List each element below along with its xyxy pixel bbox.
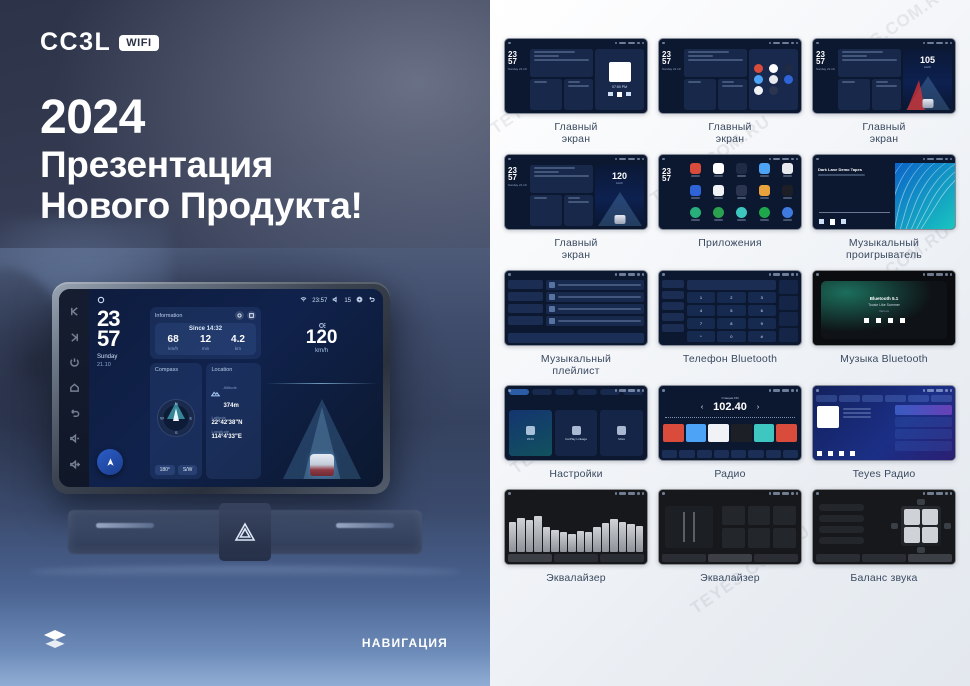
driving-view-panel[interactable]: 120 km/h	[266, 307, 377, 479]
mini-settings-tiles: Wi-FiCarPlay LinkageMore	[509, 410, 643, 456]
mini-information-card	[838, 49, 901, 77]
mini-app-icon	[708, 207, 729, 226]
gear-icon	[791, 492, 794, 495]
mini-status-bar	[659, 386, 801, 394]
compass-east-label: E	[189, 416, 192, 421]
wifi-icon	[615, 273, 618, 276]
mini-eq-tabs	[508, 554, 644, 562]
mini-app-icon	[731, 207, 752, 226]
home-icon	[816, 389, 819, 392]
back-icon	[642, 492, 645, 495]
compass-south-label: S	[175, 430, 178, 435]
volume-down-icon[interactable]	[68, 432, 81, 445]
gallery-thumbnail[interactable]	[504, 489, 648, 565]
gallery-caption: Главныйэкран	[862, 121, 905, 146]
mini-location-card	[872, 79, 901, 110]
wifi-icon	[923, 273, 926, 276]
location-longitude: Longitude 114°4'33"E	[211, 429, 256, 440]
mini-dial-key: 7	[687, 318, 715, 329]
head-unit-content: 23 57 Sunday 21.10	[95, 307, 377, 479]
mini-dial-key: *	[687, 331, 715, 342]
gallery-caption: Баланс звука	[850, 572, 917, 584]
mini-teyes-art	[817, 406, 839, 428]
prev-station-icon: ‹	[701, 404, 703, 411]
gear-icon	[637, 42, 640, 45]
power-icon[interactable]	[68, 356, 81, 369]
widget-stack: Information Since 14:32	[150, 307, 261, 479]
compass-north-label: N	[175, 401, 178, 406]
mini-time	[619, 273, 626, 276]
mini-location-card	[718, 79, 747, 110]
mountain-icon	[211, 385, 220, 403]
mini-dial-key: 4	[687, 305, 715, 316]
mini-dial-key: 9	[748, 318, 776, 329]
mini-app-icon	[754, 163, 775, 182]
logo-text: CC3L	[40, 30, 111, 55]
mini-playlist-row	[546, 304, 644, 314]
volume-value: 15	[344, 298, 351, 304]
stat-distance-unit: km	[222, 346, 254, 351]
stat-duration-unit: min	[189, 346, 221, 351]
gallery-caption: Эквалайзер	[546, 572, 606, 584]
mini-radio-preset	[776, 424, 797, 442]
back-icon	[796, 42, 799, 45]
mini-album-art	[895, 163, 955, 229]
gallery-thumbnail[interactable]	[504, 270, 648, 346]
volume-icon	[628, 389, 635, 392]
mini-app-icon	[754, 185, 775, 204]
head-unit-screen: 23:57 15 23 57	[59, 289, 383, 487]
stat-duration-value: 12	[189, 335, 221, 345]
vent-slit-right	[336, 523, 394, 528]
gear-icon	[945, 158, 948, 161]
head-unit-side-buttons[interactable]	[59, 289, 89, 487]
gallery-thumbnail[interactable]: 2357Sunday 21.10	[658, 38, 802, 114]
status-time: 23:57	[312, 298, 327, 304]
mini-radio-preset	[686, 424, 707, 442]
mini-speed-value: 105	[903, 55, 952, 65]
mini-radio-preset	[663, 424, 684, 442]
volume-icon	[936, 389, 943, 392]
home-icon	[662, 492, 665, 495]
home-icon	[662, 158, 665, 161]
mini-compass-card	[530, 79, 562, 110]
back-icon[interactable]	[368, 296, 375, 305]
clock-date: 21.10	[97, 362, 145, 368]
mini-time	[927, 158, 934, 161]
hero-footer: НАВИГАЦИЯ	[0, 629, 490, 656]
speed-unit: km/h	[266, 348, 377, 354]
gallery-caption: Teyes Радио	[853, 468, 916, 480]
gear-icon	[791, 158, 794, 161]
mini-dial-key: 8	[717, 318, 745, 329]
gallery-item[interactable]: Эквалайзер	[658, 489, 802, 584]
mini-time	[619, 389, 626, 392]
product-logo: CC3L WIFI	[40, 30, 159, 55]
gallery-thumbnail[interactable]: 2357Sunday 21.10 07:50 PM	[504, 38, 648, 114]
mini-player-info: Dark Lane Demo Tapes	[813, 163, 895, 229]
expand-icon[interactable]	[247, 311, 256, 320]
refresh-icon[interactable]	[235, 311, 244, 320]
stat-distance-value: 4.2	[222, 335, 254, 345]
mini-settings-tile: More	[600, 410, 643, 456]
gallery-thumbnail[interactable]	[812, 385, 956, 461]
stat-speed-unit: km/h	[157, 346, 189, 351]
home-icon	[508, 42, 511, 45]
mini-time	[619, 492, 626, 495]
mini-settings-tile: CarPlay Linkage	[555, 410, 598, 456]
latitude-value: 22°42'38"N	[211, 420, 256, 426]
mini-keypad: 123456789*0#	[687, 292, 776, 342]
gallery-thumbnail[interactable]: 2357Sunday 21.10 105 km/h	[812, 38, 956, 114]
gallery-item[interactable]: 2357Sunday 21.10 120 km/h Главныйэкран	[504, 154, 648, 262]
volume-icon	[782, 42, 789, 45]
gallery-thumbnail[interactable]: Wi-FiCarPlay LinkageMore	[504, 385, 648, 461]
gallery-caption: Главныйэкран	[554, 237, 597, 262]
gallery-caption: Музыкальныйплейлист	[541, 353, 611, 378]
information-since: Since 14:32	[157, 326, 254, 332]
mini-status-bar	[813, 386, 955, 394]
gallery-item[interactable]: Эквалайзер	[504, 489, 648, 584]
home-icon	[662, 389, 665, 392]
mini-eq-preset	[722, 506, 745, 526]
altitude-value: 374m	[223, 403, 238, 409]
gear-icon	[637, 273, 640, 276]
back-icon	[642, 273, 645, 276]
mini-location-card	[564, 195, 593, 226]
wifi-icon	[615, 389, 618, 392]
navigation-label: НАВИГАЦИЯ	[362, 636, 448, 650]
back-icon	[950, 273, 953, 276]
mini-radio-preset	[708, 424, 729, 442]
presentation-slide: CC3L WIFI 2024 Презентация Нового Продук…	[0, 0, 970, 686]
mini-time	[927, 273, 934, 276]
home-icon	[816, 158, 819, 161]
mini-teyes-list	[895, 405, 952, 453]
mini-eq-faders	[665, 506, 713, 548]
gallery-caption: Музыка Bluetooth	[840, 353, 928, 365]
mini-widgets	[838, 49, 901, 110]
mini-app-icon	[708, 185, 729, 204]
mini-app-icon	[777, 185, 798, 204]
gallery-item[interactable]: 123456789*0# Телефон Bluetooth	[658, 270, 802, 378]
mini-teyes-row	[895, 417, 952, 427]
gallery-caption: Радио	[714, 468, 745, 480]
mini-radio-band: Станции FM	[659, 396, 801, 400]
gallery-item[interactable]: Станции FM ‹ 102.40 › Радио	[658, 385, 802, 480]
speed-value: 120	[266, 328, 377, 347]
mini-widgets	[684, 49, 747, 110]
gallery-thumbnail[interactable]: Bluetooth 5.1 Toosie Like Summer Various	[812, 270, 956, 346]
hero-heading: 2024 Презентация Нового Продукта!	[40, 92, 363, 227]
gallery-item[interactable]: Wi-FiCarPlay LinkageMoreНастройки	[504, 385, 648, 480]
volume-icon	[782, 273, 789, 276]
gear-icon	[791, 273, 794, 276]
volume-icon	[936, 42, 943, 45]
mini-information-card	[530, 165, 593, 193]
mini-widgets	[530, 165, 593, 226]
mini-status-bar	[813, 490, 955, 498]
gallery-item[interactable]: Музыкальныйплейлист	[504, 270, 648, 378]
compass-bearing: 180°	[155, 465, 175, 475]
head-unit-display: 23:57 15 23 57	[89, 289, 383, 487]
gear-icon	[945, 273, 948, 276]
mini-compass-card	[838, 79, 870, 110]
mini-information-card	[684, 49, 747, 77]
prev-track-icon[interactable]	[68, 305, 81, 318]
back-icon	[796, 492, 799, 495]
mini-eq-preset	[748, 528, 771, 548]
gallery-thumbnail[interactable]: 2357	[658, 154, 802, 230]
mini-clock: 2357Sunday 21.10	[508, 165, 528, 226]
mini-time	[927, 42, 934, 45]
wifi-icon	[769, 42, 772, 45]
compass-dial: N E S W	[155, 373, 198, 463]
back-icon	[796, 273, 799, 276]
layers-icon	[42, 629, 68, 656]
stat-distance: 4.2 km	[222, 335, 254, 351]
mini-dial-key: 1	[687, 292, 715, 303]
volume-icon	[628, 158, 635, 161]
mini-driving-view: 105 km/h	[903, 49, 952, 110]
gallery-caption: Главныйэкран	[708, 121, 751, 146]
gear-icon	[791, 389, 794, 392]
navigation-arrow-icon[interactable]	[97, 449, 123, 475]
home-icon[interactable]	[68, 381, 81, 394]
mini-dial-key: 6	[748, 305, 776, 316]
volume-icon	[628, 42, 635, 45]
mini-radio-preset	[754, 424, 775, 442]
mini-dialer-sidebar	[662, 280, 684, 342]
widget-row: Compass N E S	[150, 363, 261, 479]
volume-icon	[782, 158, 789, 161]
compass-card[interactable]: Compass N E S	[150, 363, 203, 479]
screenshot-gallery: TEYES.COM.RU TEYES.COM.RU TEYES.COM.RU T…	[490, 0, 970, 686]
mini-status-bar	[813, 155, 955, 163]
mini-speed-value: 120	[595, 171, 644, 181]
hero-panel: CC3L WIFI 2024 Презентация Нового Продук…	[0, 0, 490, 686]
next-station-icon: ›	[757, 404, 759, 411]
gear-icon	[637, 389, 640, 392]
wifi-icon	[769, 389, 772, 392]
home-icon	[508, 158, 511, 161]
stat-speed: 68 km/h	[157, 335, 189, 351]
wifi-icon	[769, 273, 772, 276]
home-icon	[508, 273, 511, 276]
mini-playlist-row	[546, 280, 644, 290]
car-dashboard-scene: 23:57 15 23 57	[0, 248, 490, 686]
mini-app-shortcuts	[749, 49, 798, 110]
altitude-label: Altitude	[223, 385, 236, 390]
mini-compass-card	[684, 79, 716, 110]
hazard-light-button[interactable]	[219, 503, 271, 561]
location-card-title: Location	[211, 367, 256, 373]
speed-readout: 120 km/h	[266, 317, 377, 354]
information-stats-panel: Since 14:32 68 km/h 12	[155, 323, 256, 355]
mini-teyes-row	[895, 405, 952, 415]
mini-eq-preset	[748, 506, 771, 526]
gallery-thumbnail[interactable]: Станции FM ‹ 102.40 ›	[658, 385, 802, 461]
mini-balance-presets	[819, 504, 864, 548]
gallery-item[interactable]: 2357Приложения	[658, 154, 802, 262]
gallery-caption: Главныйэкран	[554, 121, 597, 146]
gear-icon	[945, 389, 948, 392]
wifi-icon	[615, 492, 618, 495]
home-icon	[662, 42, 665, 45]
gear-icon[interactable]	[356, 296, 363, 305]
gallery-item[interactable]: 2357Sunday 21.10 Главныйэкран	[658, 38, 802, 146]
mini-status-bar	[505, 155, 647, 163]
compass-readouts: 180° S/W	[155, 465, 198, 475]
back-icon	[950, 42, 953, 45]
hero-line-1: Презентация	[40, 144, 363, 185]
gallery-caption: Приложения	[698, 237, 761, 249]
back-icon	[796, 389, 799, 392]
compass-direction: S/W	[178, 465, 198, 475]
home-icon	[816, 273, 819, 276]
mini-app-icon	[685, 163, 706, 182]
mini-time	[619, 158, 626, 161]
gallery-caption: Телефон Bluetooth	[683, 353, 777, 365]
mini-clock: 2357Sunday 21.10	[816, 49, 836, 110]
mini-radio-preset	[731, 424, 752, 442]
mini-settings-tile: Wi-Fi	[509, 410, 552, 456]
mini-time	[927, 492, 934, 495]
head-unit-left-column: 23 57 Sunday 21.10	[95, 307, 261, 479]
mini-dial-key: 2	[717, 292, 745, 303]
gear-icon	[945, 42, 948, 45]
gallery-thumbnail[interactable]	[812, 489, 956, 565]
mini-status-bar	[505, 39, 647, 47]
mini-time	[773, 273, 780, 276]
gear-icon	[637, 158, 640, 161]
road-horizon	[266, 383, 377, 384]
home-icon	[816, 492, 819, 495]
gallery-item[interactable]: Dark Lane Demo Tapes Музыкальныйпроигрыв…	[812, 154, 956, 262]
mini-status-bar	[505, 490, 647, 498]
back-icon	[950, 389, 953, 392]
wifi-icon	[615, 158, 618, 161]
volume-icon	[936, 273, 943, 276]
volume-icon	[936, 158, 943, 161]
mini-radio-presets	[663, 424, 797, 442]
gear-icon	[637, 492, 640, 495]
gallery-item[interactable]: Баланс звука	[812, 489, 956, 584]
back-icon	[796, 158, 799, 161]
location-card[interactable]: Location Altitude 374m	[206, 363, 261, 479]
mini-widgets	[530, 49, 593, 110]
stat-duration: 12 min	[189, 335, 221, 351]
mini-status-bar	[505, 271, 647, 279]
clock-day: Sunday	[97, 353, 145, 361]
location-altitude: Altitude 374m	[211, 376, 256, 412]
wifi-icon	[769, 492, 772, 495]
wifi-icon	[923, 42, 926, 45]
mini-eq-preset	[773, 528, 796, 548]
gallery-item[interactable]: Teyes Радио	[812, 385, 956, 480]
mini-time	[773, 158, 780, 161]
mini-time	[773, 492, 780, 495]
lead-car	[310, 454, 334, 476]
console-highlight	[30, 566, 460, 578]
mini-app-icon	[731, 185, 752, 204]
information-card-title: Information	[155, 313, 183, 319]
mini-status-bar	[659, 490, 801, 498]
mini-status-bar	[813, 39, 955, 47]
mini-playlist-row	[546, 292, 644, 302]
mini-app-icon	[685, 207, 706, 226]
mini-eq-tabs	[662, 554, 798, 562]
hero-year: 2024	[40, 92, 363, 144]
gallery-thumbnail[interactable]	[658, 489, 802, 565]
home-icon[interactable]	[97, 296, 105, 306]
back-icon	[642, 42, 645, 45]
mini-app-icon	[731, 163, 752, 182]
mini-bt-card: Bluetooth 5.1 Toosie Like Summer Various	[821, 281, 947, 339]
location-latitude: Latitude 22°42'38"N	[211, 415, 256, 426]
mini-equalizer-bands	[509, 504, 643, 552]
mini-status-bar	[505, 386, 647, 394]
compass-west-label: W	[160, 416, 164, 421]
volume-icon	[936, 492, 943, 495]
compass-needle	[173, 408, 179, 421]
mini-location-card	[564, 79, 593, 110]
volume-up-icon[interactable]	[68, 458, 81, 471]
back-icon[interactable]	[68, 407, 81, 420]
back-icon	[642, 389, 645, 392]
mini-dial-key: 0	[717, 331, 745, 342]
mini-app-icon	[777, 207, 798, 226]
wifi-icon	[923, 158, 926, 161]
mini-playlist-row	[546, 316, 644, 326]
mini-media-panel: 07:50 PM	[595, 49, 644, 110]
gallery-item[interactable]: 2357Sunday 21.10 07:50 PM Главныйэкран	[504, 38, 648, 146]
hazard-triangle-icon	[233, 521, 257, 543]
home-icon	[508, 389, 511, 392]
mini-driving-view: 120 km/h	[595, 165, 644, 226]
mini-dial-key: 5	[717, 305, 745, 316]
back-icon	[950, 158, 953, 161]
information-card[interactable]: Information Since 14:32	[150, 307, 261, 359]
wifi-icon	[300, 296, 307, 305]
gear-icon	[945, 492, 948, 495]
wifi-icon	[923, 492, 926, 495]
headlight-icon	[317, 317, 326, 326]
mini-teyes-row	[895, 429, 952, 439]
gallery-thumbnail[interactable]: Dark Lane Demo Tapes	[812, 154, 956, 230]
mini-teyes-row	[895, 441, 952, 451]
gallery-thumbnail[interactable]: 123456789*0#	[658, 270, 802, 346]
mini-time	[619, 42, 626, 45]
back-icon	[950, 492, 953, 495]
head-unit-bezel: 23:57 15 23 57	[52, 282, 390, 494]
stat-speed-value: 68	[157, 335, 189, 345]
mini-radio-frequency: 102.40	[713, 401, 747, 413]
home-icon	[816, 42, 819, 45]
mini-compass-card	[530, 195, 562, 226]
next-track-icon[interactable]	[68, 331, 81, 344]
logo-wifi-badge: WIFI	[119, 35, 158, 51]
mini-app-icon	[777, 163, 798, 182]
gallery-caption: Настройки	[549, 468, 602, 480]
gallery-thumbnail[interactable]: 2357Sunday 21.10 120 km/h	[504, 154, 648, 230]
volume-icon	[628, 273, 635, 276]
information-card-header: Information	[155, 311, 256, 320]
gallery-item[interactable]: Bluetooth 5.1 Toosie Like Summer Various…	[812, 270, 956, 378]
volume-icon	[628, 492, 635, 495]
mini-speed-unit: km/h	[595, 181, 644, 185]
gallery-item[interactable]: 2357Sunday 21.10 105 km/h Главныйэкран	[812, 38, 956, 146]
